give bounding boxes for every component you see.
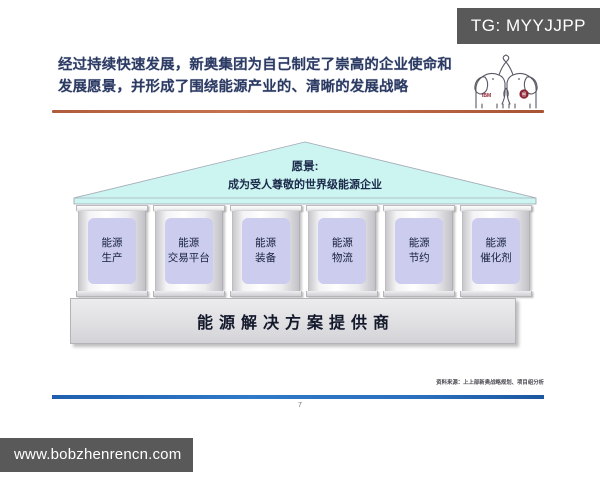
pillar-label: 能源 装备 [242,218,290,284]
pillar-label-line-2: 节约 [409,251,430,266]
pillar-label: 能源 催化剂 [472,218,520,284]
temple-roof: 愿景: 成为受人尊敬的世界级能源企业 [70,140,540,206]
tg-badge: TG: MYYJJPP [457,8,600,44]
pillar-label-line-1: 能源 [332,236,353,251]
pillar-row: 能源 生产 能源 交易平台 能源 装备 [78,205,530,297]
pillar-energy-production[interactable]: 能源 生产 [78,205,146,297]
pillar-base [306,291,378,297]
header-title-line-2: 发展愿景，并形成了围绕能源产业的、清晰的发展战略 [58,76,458,98]
pillar-label-line-2: 装备 [255,251,276,266]
svg-text:睿: 睿 [521,91,526,98]
pillar-base [460,291,532,297]
header-divider [52,110,544,113]
slide-header: 经过持续快速发展，新奥集团为自己制定了崇高的企业使命和 发展愿景，并形成了围绕能… [0,50,600,116]
slide-canvas: 经过持续快速发展，新奥集团为自己制定了崇高的企业使命和 发展愿景，并形成了围绕能… [0,50,600,430]
pillar-energy-catalyst[interactable]: 能源 催化剂 [462,205,530,297]
pillar-label-line-1: 能源 [485,236,506,251]
pillar-energy-conservation[interactable]: 能源 节约 [385,205,453,297]
pillar-label-line-1: 能源 [255,236,276,251]
two-elephants-logo: IBM 睿 [466,52,546,112]
pillar-energy-logistics[interactable]: 能源 物流 [308,205,376,297]
temple-foundation: 能源解决方案提供商 [70,298,516,344]
header-title: 经过持续快速发展，新奥集团为自己制定了崇高的企业使命和 发展愿景，并形成了围绕能… [58,54,458,99]
pillar-energy-equipment[interactable]: 能源 装备 [232,205,300,297]
site-watermark: www.bobzhenrencn.com [0,438,193,472]
pillar-label-line-2: 催化剂 [480,251,512,266]
header-title-line-1: 经过持续快速发展，新奥集团为自己制定了崇高的企业使命和 [58,54,458,76]
vision-statement: 成为受人尊敬的世界级能源企业 [70,178,540,193]
foundation-label: 能源解决方案提供商 [191,309,395,333]
vision-label: 愿景: [70,160,540,176]
pillar-label: 能源 节约 [395,218,443,284]
pillar-label-line-1: 能源 [409,236,430,251]
pillar-label: 能源 生产 [88,218,136,284]
source-note: 资料来源：上上部新奥战略规划、项目组分析 [250,378,544,386]
footer-divider [52,395,544,399]
pillar-label: 能源 交易平台 [165,218,213,284]
pillar-label-line-2: 物流 [332,251,353,266]
svg-text:IBM: IBM [482,93,491,99]
pillar-label: 能源 物流 [318,218,366,284]
roof-text-block: 愿景: 成为受人尊敬的世界级能源企业 [70,160,540,192]
pillar-label-line-2: 生产 [102,251,123,266]
pillar-base [383,291,455,297]
pillar-base [153,291,225,297]
pillar-label-line-1: 能源 [178,236,199,251]
temple-diagram: 愿景: 成为受人尊敬的世界级能源企业 能源 生产 能源 交易平台 [70,140,540,360]
pillar-base [230,291,302,297]
pillar-energy-trading-platform[interactable]: 能源 交易平台 [155,205,223,297]
pillar-label-line-1: 能源 [102,236,123,251]
pillar-base [76,291,148,297]
page-number: 7 [0,402,600,409]
pillar-label-line-2: 交易平台 [168,251,210,266]
